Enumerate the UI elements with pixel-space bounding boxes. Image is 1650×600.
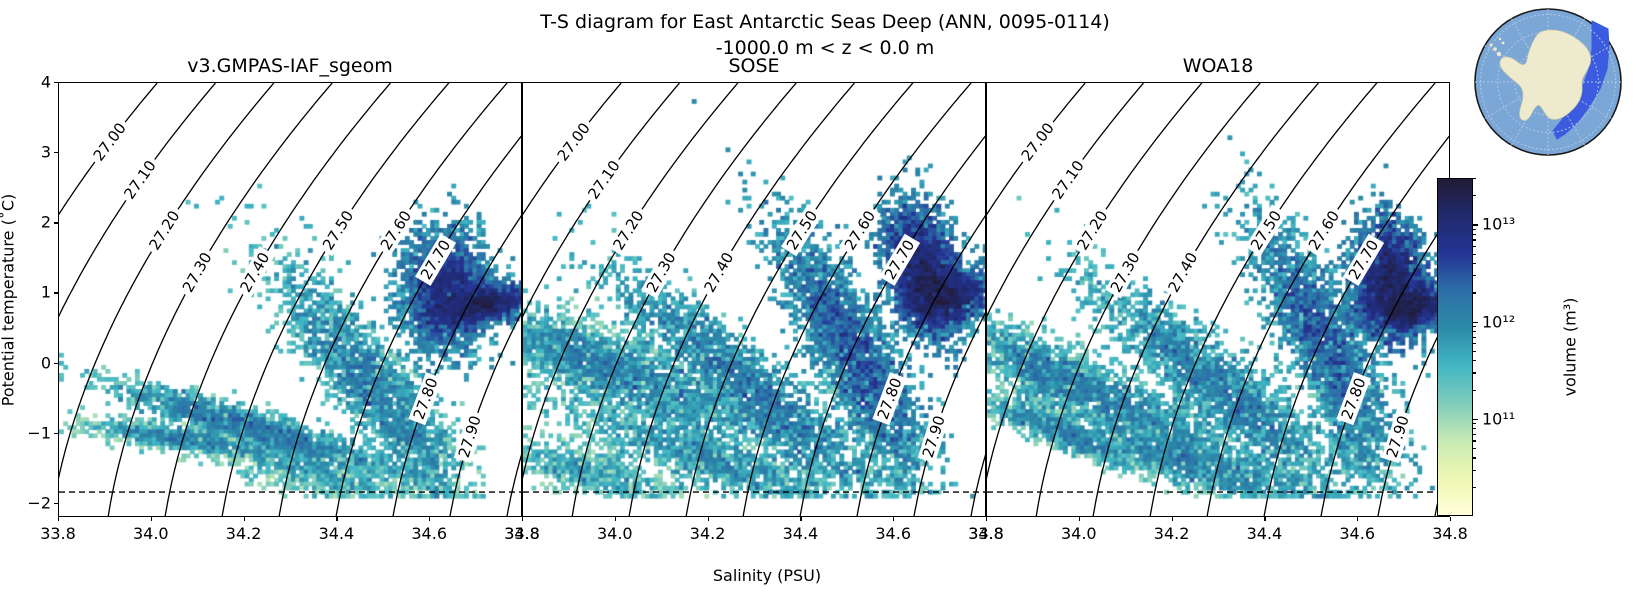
density-contour-line — [686, 83, 913, 517]
contour-label: 27.80 — [410, 375, 442, 422]
contour-label: 27.70 — [881, 237, 918, 283]
contour-label: 27.10 — [1048, 157, 1087, 202]
colorbar-minor-tick — [1473, 360, 1476, 361]
density-contour-line — [450, 247, 522, 516]
colorbar-title: volume (m³) — [1561, 298, 1580, 397]
contour-label: 27.10 — [584, 157, 623, 202]
colorbar-minor-tick — [1473, 428, 1476, 429]
density-contour-line — [59, 83, 274, 517]
x-tick-mark — [336, 517, 337, 521]
contour-label: 27.20 — [1073, 207, 1111, 253]
y-tick-label: −1 — [27, 423, 51, 442]
x-tick-label: 34.4 — [319, 524, 355, 543]
density-contours: 27.0027.1027.2027.3027.4027.5027.6027.70… — [987, 83, 1450, 517]
colorbar-minor-tick — [1473, 470, 1476, 471]
density-contour-line — [800, 91, 986, 516]
x-tick-label: 33.8 — [968, 524, 1004, 543]
x-tick-label: 34.0 — [133, 524, 169, 543]
density-contour-line — [523, 83, 738, 517]
colorbar-minor-tick — [1473, 343, 1476, 344]
x-tick-mark — [800, 517, 801, 521]
panel-title: WOA18 — [986, 55, 1450, 77]
x-tick-mark — [522, 517, 523, 521]
x-tick-mark — [58, 517, 59, 521]
x-tick-mark — [1172, 517, 1173, 521]
x-axis-label: Salinity (PSU) — [713, 566, 821, 585]
density-contour-line — [59, 83, 215, 403]
contour-label: 27.60 — [841, 207, 879, 253]
density-contour-line — [629, 83, 854, 517]
y-tick-label: 2 — [41, 213, 51, 232]
y-tick-mark — [54, 292, 58, 293]
density-contour-line — [1093, 83, 1318, 517]
colorbar-tick-mark — [1473, 224, 1478, 225]
y-tick-mark — [54, 82, 58, 83]
y-tick-label: 4 — [41, 73, 51, 92]
colorbar-gradient — [1438, 179, 1472, 515]
x-tick-label: 34.8 — [1432, 524, 1468, 543]
density-contours: 27.0027.1027.2027.3027.4027.5027.6027.70… — [59, 83, 522, 517]
x-tick-mark — [429, 517, 430, 521]
contour-label: 27.80 — [874, 375, 906, 422]
x-tick-label: 34.6 — [411, 524, 447, 543]
colorbar-tick-mark — [1473, 322, 1478, 323]
colorbar-minor-tick — [1473, 178, 1476, 179]
x-tick-mark — [151, 517, 152, 521]
y-tick-mark — [54, 222, 58, 223]
colorbar-minor-tick — [1473, 440, 1476, 441]
inset-island — [1499, 38, 1501, 40]
contour-label: 27.80 — [1338, 375, 1370, 422]
contour-label: 27.50 — [319, 207, 357, 253]
density-contours: 27.0027.1027.2027.3027.4027.5027.6027.70… — [523, 83, 986, 517]
contour-label: 27.90 — [455, 413, 485, 459]
y-tick-label: 0 — [41, 353, 51, 372]
inset-island — [1490, 44, 1493, 47]
colorbar-minor-tick — [1473, 390, 1476, 391]
colorbar-minor-tick — [1473, 448, 1476, 449]
y-tick-mark — [54, 433, 58, 434]
panel-v3-gmpas-iaf-sgeom: v3.GMPAS-IAF_sgeom27.0027.1027.2027.3027… — [58, 82, 522, 517]
colorbar-minor-tick — [1473, 246, 1476, 247]
x-tick-label: 33.8 — [40, 524, 76, 543]
x-tick-mark — [615, 517, 616, 521]
contour-label: 27.40 — [1164, 249, 1201, 295]
contour-label: 27.60 — [377, 207, 415, 253]
y-tick-label: 1 — [41, 283, 51, 302]
x-tick-label: 34.4 — [783, 524, 819, 543]
density-contour-line — [987, 83, 1202, 517]
colorbar-tick-label: 10¹³ — [1482, 215, 1515, 234]
density-contour-line — [165, 83, 390, 517]
x-tick-mark — [708, 517, 709, 521]
colorbar-minor-tick — [1473, 195, 1476, 196]
inset-island — [1497, 52, 1501, 56]
y-tick-mark — [54, 363, 58, 364]
x-tick-label: 33.8 — [504, 524, 540, 543]
y-axis-label: Potential temperature (˚C) — [0, 194, 18, 407]
x-tick-label: 34.6 — [875, 524, 911, 543]
inset-island — [1493, 47, 1497, 51]
contour-label: 27.60 — [1305, 207, 1343, 253]
x-tick-mark — [244, 517, 245, 521]
colorbar-minor-tick — [1473, 423, 1476, 424]
density-contour-line — [523, 83, 680, 403]
colorbar-minor-tick — [1473, 372, 1476, 373]
contour-label: 27.50 — [1247, 207, 1285, 253]
x-tick-mark — [1079, 517, 1080, 521]
contour-label: 27.70 — [417, 237, 454, 283]
figure-root: T-S diagram for East Antarctic Seas Deep… — [0, 0, 1650, 600]
x-tick-mark — [1357, 517, 1358, 521]
inset-island — [1502, 42, 1505, 45]
suptitle-line-1: T-S diagram for East Antarctic Seas Deep… — [540, 11, 1110, 33]
contour-label: 27.10 — [120, 157, 159, 202]
contour-label: 27.90 — [1383, 413, 1413, 459]
x-tick-mark — [1264, 517, 1265, 521]
y-tick-mark — [54, 152, 58, 153]
antarctic-region-inset-map — [1469, 3, 1627, 161]
contour-label: 27.30 — [1107, 249, 1144, 295]
x-tick-label: 34.2 — [690, 524, 726, 543]
density-contour-line — [1036, 83, 1260, 517]
colorbar-minor-tick — [1473, 229, 1476, 230]
panel-woa18: WOA1827.0027.1027.2027.3027.4027.5027.60… — [986, 82, 1450, 517]
colorbar-minor-tick — [1473, 434, 1476, 435]
y-tick-mark — [54, 503, 58, 504]
colorbar-minor-tick — [1473, 351, 1476, 352]
y-tick-label: −2 — [27, 493, 51, 512]
colorbar-minor-tick — [1473, 263, 1476, 264]
contour-label: 27.20 — [609, 207, 647, 253]
x-tick-label: 34.2 — [226, 524, 262, 543]
plot-area[interactable]: 27.0027.1027.2027.3027.4027.5027.6027.70… — [58, 82, 522, 517]
colorbar-minor-tick — [1473, 239, 1476, 240]
contour-label: 27.00 — [554, 119, 594, 164]
contour-label: 27.50 — [783, 207, 821, 253]
figure-suptitle: T-S diagram for East Antarctic Seas Deep… — [0, 10, 1650, 61]
panel-title: v3.GMPAS-IAF_sgeom — [58, 55, 522, 77]
contour-label: 27.90 — [919, 413, 949, 459]
contour-label: 27.30 — [643, 249, 680, 295]
plot-area[interactable]: 27.0027.1027.2027.3027.4027.5027.6027.70… — [986, 82, 1450, 517]
y-tick-label: 3 — [41, 143, 51, 162]
colorbar-minor-tick — [1473, 337, 1476, 338]
x-tick-label: 34.6 — [1339, 524, 1375, 543]
colorbar-minor-tick — [1473, 326, 1476, 327]
colorbar[interactable] — [1437, 178, 1473, 516]
density-contour-line — [914, 247, 986, 516]
density-contour-line — [222, 83, 449, 517]
colorbar-minor-tick — [1473, 487, 1476, 488]
colorbar-minor-tick — [1473, 234, 1476, 235]
contour-label: 27.00 — [90, 119, 130, 164]
plot-area[interactable]: 27.0027.1027.2027.3027.4027.5027.6027.70… — [522, 82, 986, 517]
density-contour-line — [1264, 91, 1450, 516]
contour-label: 27.70 — [1345, 237, 1382, 283]
colorbar-tick-label: 10¹¹ — [1482, 409, 1515, 428]
panel-title: SOSE — [522, 55, 986, 77]
density-contour-line — [108, 83, 332, 517]
colorbar-tick-mark — [1473, 419, 1478, 420]
panel-sose: SOSE27.0027.1027.2027.3027.4027.5027.602… — [522, 82, 986, 517]
colorbar-minor-tick — [1473, 275, 1476, 276]
contour-label: 27.00 — [1018, 119, 1058, 164]
x-tick-mark — [1450, 517, 1451, 521]
x-tick-label: 34.4 — [1247, 524, 1283, 543]
colorbar-tick-label: 10¹² — [1482, 312, 1515, 331]
x-tick-label: 34.0 — [597, 524, 633, 543]
density-contour-line — [336, 91, 522, 516]
x-tick-mark — [986, 517, 987, 521]
colorbar-minor-tick — [1473, 254, 1476, 255]
colorbar-minor-tick — [1473, 331, 1476, 332]
contour-label: 27.30 — [179, 249, 216, 295]
x-tick-mark — [893, 517, 894, 521]
contour-label: 27.40 — [236, 249, 273, 295]
density-contour-line — [987, 83, 1144, 403]
density-contour-line — [1150, 83, 1377, 517]
contour-label: 27.40 — [700, 249, 737, 295]
x-tick-label: 34.2 — [1154, 524, 1190, 543]
colorbar-minor-tick — [1473, 457, 1476, 458]
contour-label: 27.20 — [145, 207, 183, 253]
x-tick-label: 34.0 — [1061, 524, 1097, 543]
density-contour-line — [572, 83, 796, 517]
colorbar-minor-tick — [1473, 292, 1476, 293]
